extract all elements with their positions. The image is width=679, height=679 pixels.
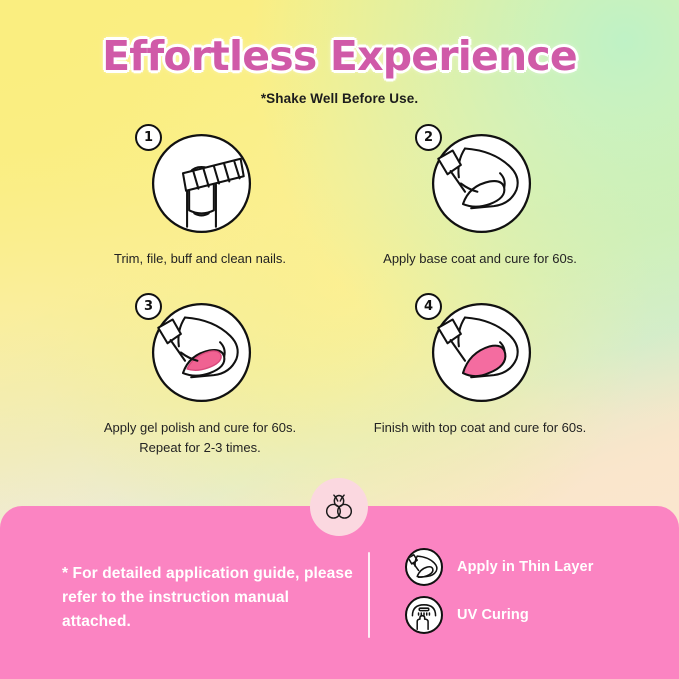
- step-item: 1 Trim, file, buff and clean nails.: [60, 128, 340, 269]
- step-caption: Apply gel polish and cure for 60s. Repea…: [85, 418, 315, 458]
- tip-label: Apply in Thin Layer: [457, 559, 593, 575]
- step-number-badge: 2: [415, 124, 442, 151]
- base-coat-brush-icon: [430, 132, 533, 235]
- top-coat-finished-nail-icon: [430, 301, 533, 404]
- infographic-page: Effortless Experience *Shake Well Before…: [0, 0, 679, 679]
- step-illustration: 4: [425, 297, 535, 407]
- uv-lamp-icon: [405, 596, 443, 634]
- brand-logo-badge: [310, 478, 368, 536]
- step-number-badge: 3: [135, 293, 162, 320]
- tip-label: UV Curing: [457, 607, 529, 623]
- footer-note: * For detailed application guide, please…: [62, 562, 362, 634]
- step-number-badge: 1: [135, 124, 162, 151]
- step-caption: Apply base coat and cure for 60s.: [365, 249, 595, 269]
- step-illustration: 1: [145, 128, 255, 238]
- step-illustration: 2: [425, 128, 535, 238]
- page-title: Effortless Experience: [0, 32, 679, 80]
- step-illustration: 3: [145, 297, 255, 407]
- footer-divider: [368, 552, 370, 638]
- thin-layer-brush-icon: [405, 548, 443, 586]
- bee-logo-icon: [322, 490, 356, 524]
- steps-grid: 1 Trim, file, buff and clean nails.: [60, 128, 620, 458]
- gel-polish-brush-icon: [150, 301, 253, 404]
- step-caption: Trim, file, buff and clean nails.: [85, 249, 315, 269]
- step-number-badge: 4: [415, 293, 442, 320]
- tip-item-uv-curing: UV Curing: [405, 596, 593, 634]
- tip-item-thin-layer: Apply in Thin Layer: [405, 548, 593, 586]
- step-item: 3 Appl: [60, 297, 340, 458]
- nail-file-icon: [150, 132, 253, 235]
- step-item: 2 Appl: [340, 128, 620, 269]
- step-item: 4 Finish with top coat and cure: [340, 297, 620, 458]
- footer-tips: Apply in Thin Layer UV Curing: [405, 548, 593, 634]
- step-caption: Finish with top coat and cure for 60s.: [365, 418, 595, 438]
- page-subtitle: *Shake Well Before Use.: [0, 91, 679, 106]
